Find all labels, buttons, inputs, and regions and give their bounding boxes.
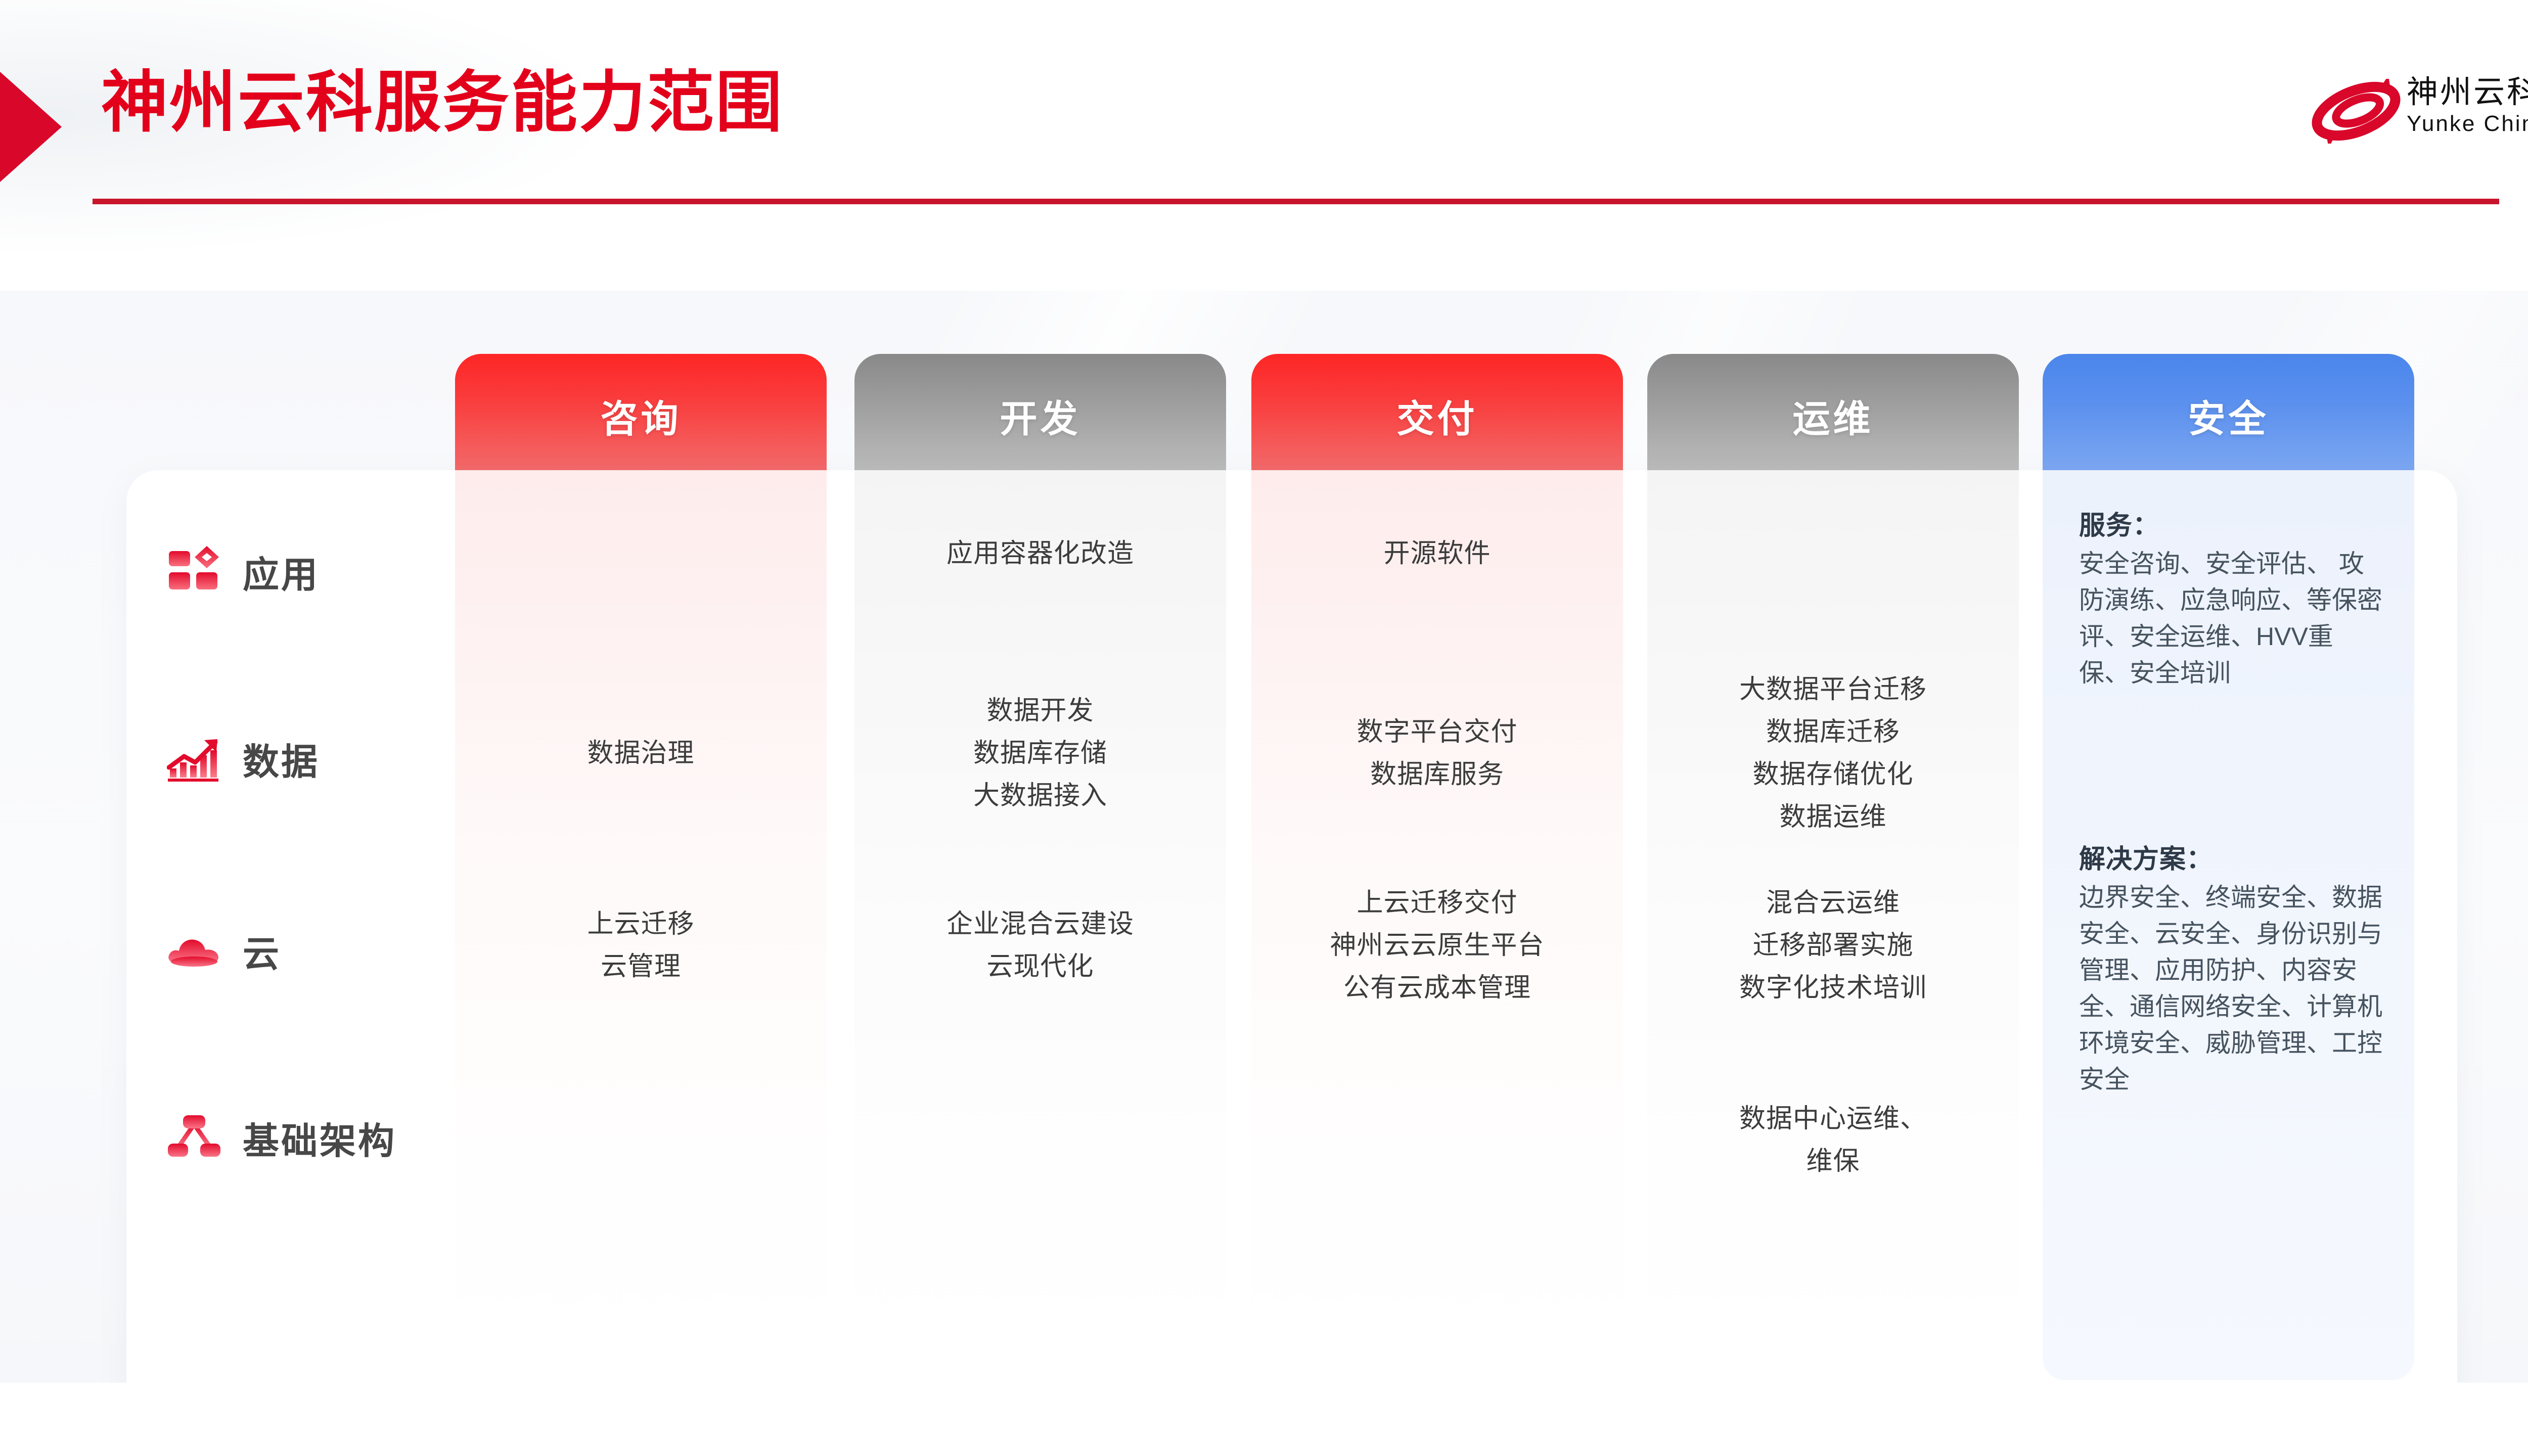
cell-line: 数据开发 — [973, 690, 1107, 732]
cell-app-development[interactable]: 应用容器化改造 — [854, 508, 1226, 599]
security-solutions-body: 边界安全、终端安全、数据安全、云安全、身份识别与管理、应用防护、内容安全、通信网… — [2079, 879, 2382, 1098]
cell-infra-operations[interactable]: 数据中心运维、维保 — [1647, 1084, 2019, 1196]
brand-name-en: Yunke China — [2407, 110, 2528, 138]
cell-lines: 上云迁移云管理 — [587, 903, 694, 988]
cell-line: 迁移部署实施 — [1739, 924, 1927, 967]
cell-app-consulting[interactable] — [455, 508, 827, 599]
security-solutions-title: 解决方案： — [2079, 842, 2382, 877]
cell-lines: 大数据平台迁移数据库迁移数据存储优化数据运维 — [1739, 668, 1927, 838]
security-services-title: 服务： — [2079, 508, 2382, 543]
cell-infra-delivery[interactable] — [1251, 1084, 1623, 1196]
cell-app-delivery[interactable]: 开源软件 — [1251, 508, 1623, 599]
security-services-body: 安全咨询、安全评估、 攻防演练、应急响应、等保密评、安全运维、HVV重保、安全培… — [2079, 545, 2382, 691]
cell-cloud-delivery[interactable]: 上云迁移交付神州云云原生平台公有云成本管理 — [1251, 882, 1623, 1009]
cell-line: 上云迁移 — [587, 903, 694, 945]
cell-cloud-development[interactable]: 企业混合云建设云现代化 — [854, 882, 1226, 1009]
cell-line: 数据库存储 — [973, 732, 1107, 775]
cell-lines: 数据治理 — [587, 732, 694, 775]
title-divider — [93, 199, 2499, 204]
cell-line: 云现代化 — [946, 945, 1134, 988]
cell-line: 大数据接入 — [973, 775, 1107, 817]
cell-line: 数据中心运维、 — [1739, 1098, 1927, 1140]
cell-data-operations[interactable]: 大数据平台迁移数据库迁移数据存储优化数据运维 — [1647, 690, 2019, 816]
slide-root: 神州云科服务能力范围 神州云科 Yunke China — [0, 0, 2528, 1456]
cell-line: 数据库服务 — [1357, 753, 1517, 796]
cell-line: 应用容器化改造 — [946, 532, 1134, 575]
cell-lines: 企业混合云建设云现代化 — [946, 903, 1134, 988]
cell-line: 大数据平台迁移 — [1739, 668, 1927, 711]
cell-lines: 混合云运维迁移部署实施数字化技术培训 — [1739, 882, 1927, 1009]
cell-line: 数据治理 — [587, 732, 694, 775]
brand-name-cn: 神州云科 — [2407, 75, 2528, 110]
cell-line: 上云迁移交付 — [1330, 882, 1544, 924]
cell-line: 数字平台交付 — [1357, 711, 1517, 753]
cell-line: 云管理 — [587, 945, 694, 988]
cell-lines: 开源软件 — [1383, 532, 1491, 575]
cell-lines: 数据中心运维、维保 — [1739, 1098, 1927, 1182]
cell-lines: 数字平台交付数据库服务 — [1357, 711, 1517, 796]
brand-logo: 神州云科 Yunke China — [2311, 75, 2528, 151]
cell-line: 开源软件 — [1383, 532, 1491, 575]
matrix-content-area: 咨询 开发 交付 运维 安全 — [0, 291, 2528, 1383]
matrix-cells: 应用容器化改造 开源软件 数据治理 数据开发数据库存储大数据接入 数字平台交付数… — [0, 291, 2528, 1383]
cell-app-operations[interactable] — [1647, 508, 2019, 599]
cell-data-delivery[interactable]: 数字平台交付数据库服务 — [1251, 690, 1623, 816]
slide-header: 神州云科服务能力范围 神州云科 Yunke China — [0, 0, 2528, 291]
cell-line: 数据运维 — [1739, 796, 1927, 838]
cell-lines: 应用容器化改造 — [946, 532, 1134, 575]
cell-line: 数字化技术培训 — [1739, 967, 1927, 1009]
cell-cloud-operations[interactable]: 混合云运维迁移部署实施数字化技术培训 — [1647, 882, 2019, 1009]
cell-data-development[interactable]: 数据开发数据库存储大数据接入 — [854, 690, 1226, 816]
cell-line: 维保 — [1739, 1140, 1927, 1182]
cell-line: 企业混合云建设 — [946, 903, 1134, 945]
cell-line: 公有云成本管理 — [1330, 967, 1544, 1009]
cell-lines: 数据开发数据库存储大数据接入 — [973, 690, 1107, 817]
brand-logo-text: 神州云科 Yunke China — [2407, 75, 2528, 138]
cell-lines: 上云迁移交付神州云云原生平台公有云成本管理 — [1330, 882, 1544, 1009]
page-title: 神州云科服务能力范围 — [101, 65, 784, 141]
cell-infra-consulting[interactable] — [455, 1084, 827, 1196]
cell-line: 数据存储优化 — [1739, 753, 1927, 796]
yunke-swirl-logo-icon — [2311, 79, 2402, 144]
cell-line: 数据库迁移 — [1739, 711, 1927, 753]
cell-cloud-consulting[interactable]: 上云迁移云管理 — [455, 882, 827, 1009]
cell-line: 神州云云原生平台 — [1330, 924, 1544, 967]
cell-infra-development[interactable] — [854, 1084, 1226, 1196]
cell-line: 混合云运维 — [1739, 882, 1927, 924]
security-services-block[interactable]: 服务： 安全咨询、安全评估、 攻防演练、应急响应、等保密评、安全运维、HVV重保… — [2079, 508, 2382, 691]
security-solutions-block[interactable]: 解决方案： 边界安全、终端安全、数据安全、云安全、身份识别与管理、应用防护、内容… — [2079, 842, 2382, 1098]
cell-data-consulting[interactable]: 数据治理 — [455, 690, 827, 816]
